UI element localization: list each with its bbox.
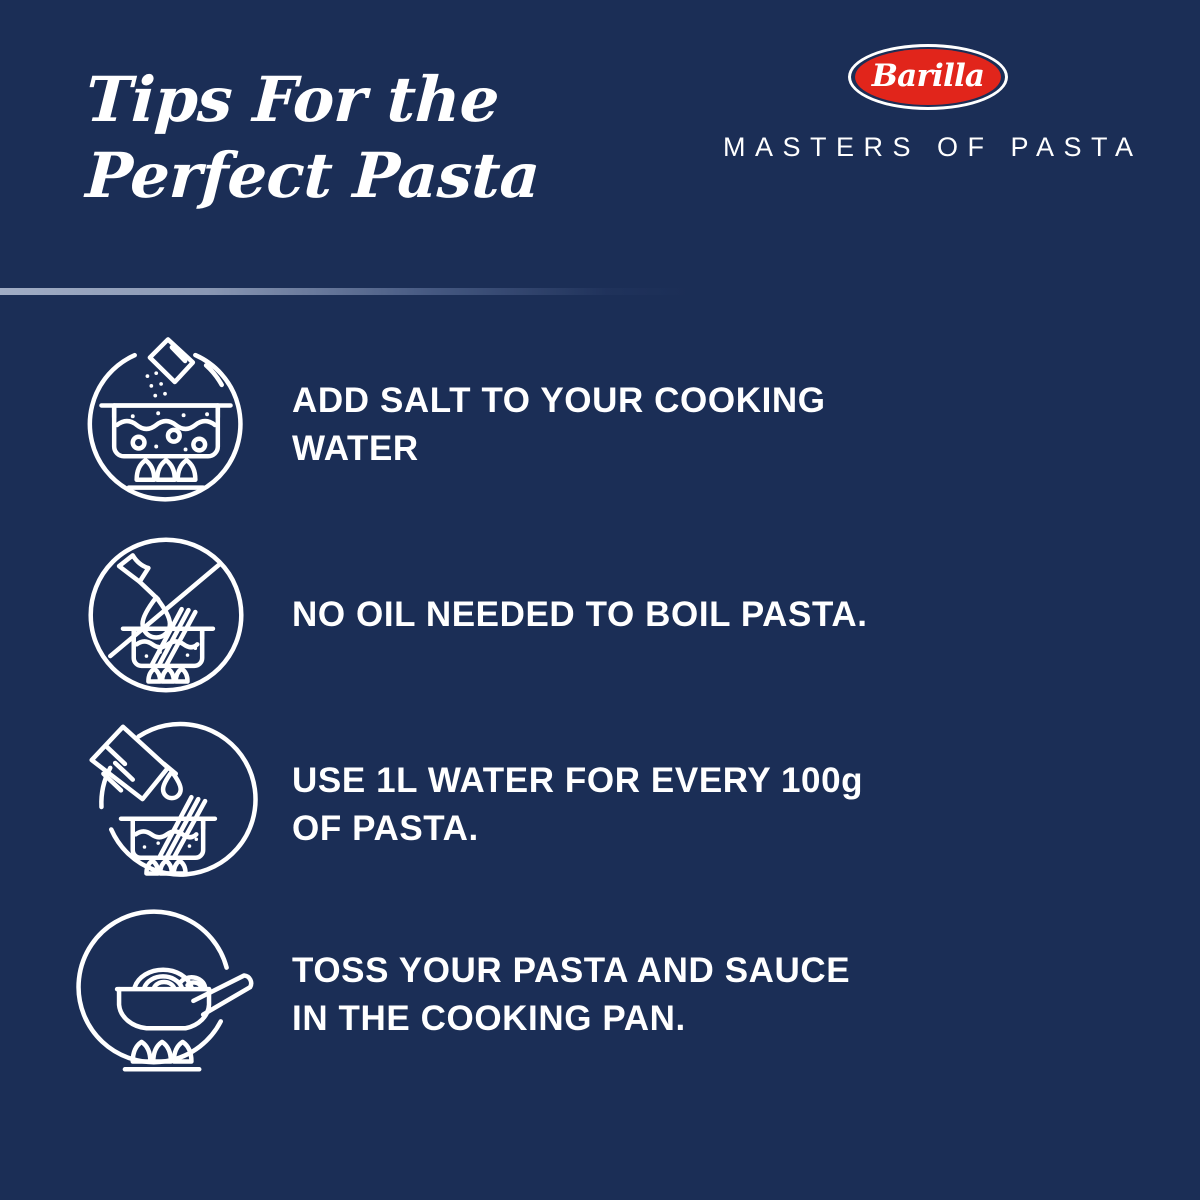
list-item-text-line-2: OF PASTA. (292, 805, 952, 853)
list-item-text-line-1: NO OIL NEEDED TO BOIL PASTA. (292, 595, 868, 634)
no-oil-pot-icon (78, 527, 254, 703)
list-item-text-line-1: USE 1L WATER FOR EVERY 100g (292, 761, 863, 800)
list-item-text: NO OIL NEEDED TO BOIL PASTA. (292, 591, 952, 639)
list-item: NO OIL NEEDED TO BOIL PASTA. (0, 520, 1200, 710)
list-item-text: USE 1L WATER FOR EVERY 100g OF PASTA. (292, 757, 952, 853)
list-item-text-line-1: TOSS YOUR PASTA AND SAUCE (292, 951, 850, 990)
logo-wordmark: Barilla (848, 44, 1008, 110)
brand-block: Barilla MASTERS OF PASTA (708, 44, 1148, 163)
page-title-line-2: Perfect Pasta (84, 138, 708, 214)
list-item-text-line-1: ADD SALT TO YOUR COOKING WATER (292, 381, 826, 468)
list-item-text-line-2: IN THE COOKING PAN. (292, 995, 952, 1043)
measuring-jug-pot-icon (78, 717, 254, 893)
barilla-logo: Barilla (848, 44, 1008, 110)
salt-pot-icon (78, 337, 254, 513)
tips-list: ADD SALT TO YOUR COOKING WATER (0, 330, 1200, 1090)
poster-canvas: Tips For the Perfect Pasta Barilla MASTE… (0, 0, 1200, 1200)
list-item-text: ADD SALT TO YOUR COOKING WATER (292, 377, 952, 473)
list-item: USE 1L WATER FOR EVERY 100g OF PASTA. (0, 710, 1200, 900)
list-item: TOSS YOUR PASTA AND SAUCE IN THE COOKING… (0, 900, 1200, 1090)
header-divider (0, 288, 690, 295)
brand-tagline: MASTERS OF PASTA (708, 132, 1148, 163)
pan-spaghetti-icon (78, 907, 254, 1083)
page-title: Tips For the Perfect Pasta (86, 62, 706, 214)
page-title-line-1: Tips For the (84, 62, 708, 138)
list-item-text: TOSS YOUR PASTA AND SAUCE IN THE COOKING… (292, 947, 952, 1043)
list-item: ADD SALT TO YOUR COOKING WATER (0, 330, 1200, 520)
